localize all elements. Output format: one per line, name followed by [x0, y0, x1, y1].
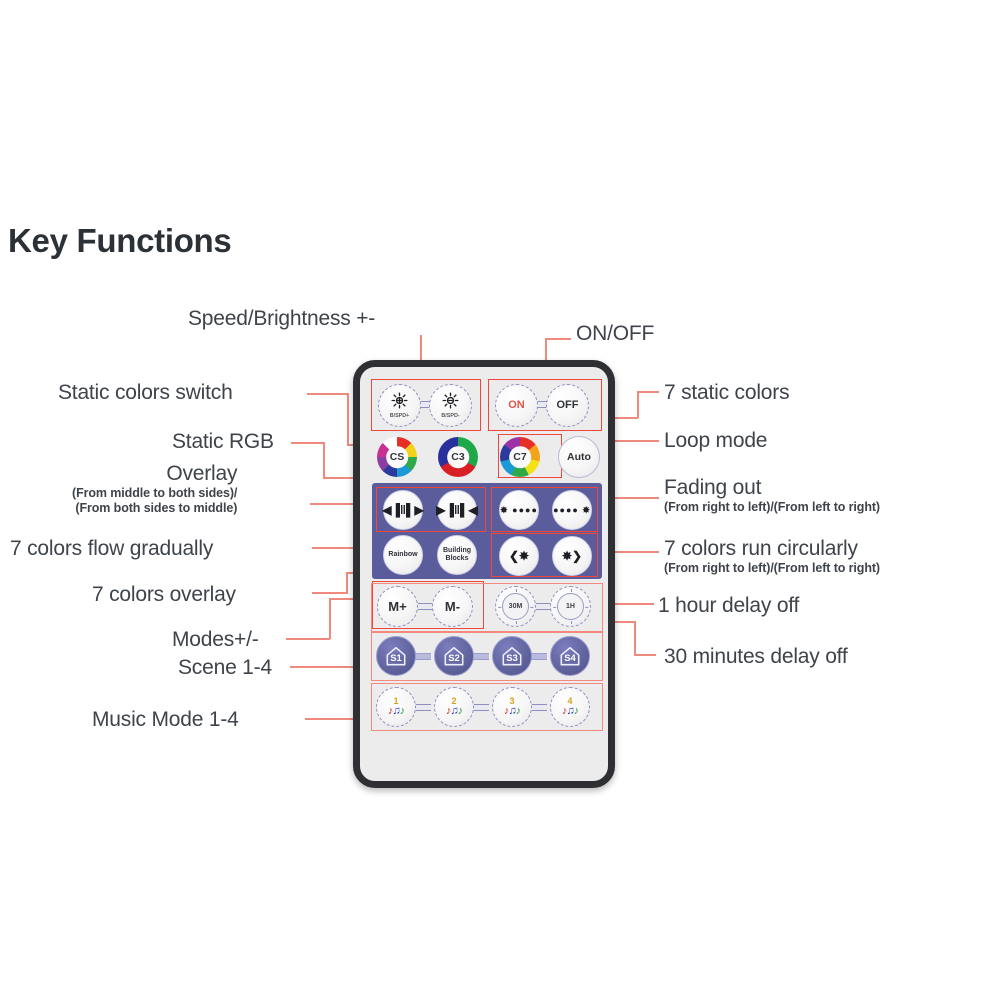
- label-scene-1-4: Scene 1-4: [178, 656, 272, 680]
- key-scene-2-label: S2: [448, 653, 460, 664]
- key-rainbow-label: Rainbow: [388, 551, 417, 559]
- key-brightness-down[interactable]: B/SPD-: [429, 384, 472, 427]
- label-static-rgb: Static RGB: [172, 430, 274, 454]
- label-colors-flow-gradually: 7 colors flow gradually: [10, 537, 213, 561]
- home-icon: S4: [559, 645, 581, 667]
- key-timer-30m-label: 30M: [502, 593, 529, 620]
- key-music-4[interactable]: 4 ♪♫♪: [550, 687, 590, 727]
- key-scene-2[interactable]: S2: [434, 636, 474, 676]
- music-note-icon: ♪♫♪: [504, 706, 520, 717]
- key-scene-4[interactable]: S4: [550, 636, 590, 676]
- label-fading-out: Fading out (From right to left)/(From le…: [664, 476, 880, 515]
- key-brightness-up[interactable]: B/SPD+: [378, 384, 421, 427]
- connector-modes-v: [329, 598, 331, 639]
- key-on-label: ON: [508, 400, 525, 411]
- key-music-3[interactable]: 3 ♪♫♪: [492, 687, 532, 727]
- run-right-icon: ✸❯: [562, 550, 582, 562]
- label-colors-run-circularly: 7 colors run circularly (From right to l…: [664, 537, 880, 576]
- connector-7-static-colors-h: [637, 391, 659, 393]
- label-overlay-title: Overlay: [166, 462, 237, 485]
- key-timer-1h-label: 1H: [557, 593, 584, 620]
- overlay-out-icon: ◀▐‖▌▶: [382, 504, 423, 516]
- label-loop-mode: Loop mode: [664, 429, 767, 453]
- key-scene-1-label: S1: [390, 653, 402, 664]
- key-cs-label: CS: [386, 446, 408, 468]
- connector-static-colors-switch-v: [347, 393, 349, 445]
- label-30-minutes-delay-off: 30 minutes delay off: [664, 645, 848, 669]
- connector-colors-overlay-h: [312, 592, 348, 594]
- music-note-icon: ♪♫♪: [446, 706, 462, 717]
- key-overlay-in[interactable]: ▶▐‖▌◀: [437, 490, 477, 530]
- bridge-scene-2: [472, 653, 489, 660]
- key-c7-label: C7: [509, 446, 531, 468]
- connector-7-static-colors-v: [637, 391, 639, 418]
- brightness-up-icon: [391, 392, 408, 413]
- music-note-icon: ♪♫♪: [388, 706, 404, 717]
- bridge-music-1: [414, 704, 431, 711]
- key-scene-1[interactable]: S1: [376, 636, 416, 676]
- key-music-2[interactable]: 2 ♪♫♪: [434, 687, 474, 727]
- home-icon: S3: [501, 645, 523, 667]
- connector-static-rgb-h: [291, 442, 324, 444]
- connector-30m-h2: [634, 654, 656, 656]
- label-modes-plus-minus: Modes+/-: [172, 628, 259, 652]
- fade-left-to-right-icon: ●●●● ✸: [553, 506, 591, 515]
- label-fading-out-title: Fading out: [664, 476, 761, 499]
- key-brightness-down-caption: B/SPD-: [441, 414, 459, 419]
- home-icon: S2: [443, 645, 465, 667]
- label-overlay-sub-1: (From middle to both sides)/: [72, 486, 237, 501]
- key-c3-label: C3: [447, 446, 469, 468]
- connector-30m-v: [634, 621, 636, 655]
- key-off-label: OFF: [557, 400, 579, 411]
- label-on-off: ON/OFF: [576, 322, 654, 346]
- fade-right-to-left-icon: ✸ ●●●●: [500, 506, 538, 515]
- label-music-mode-1-4: Music Mode 1-4: [92, 708, 239, 732]
- key-on[interactable]: ON: [495, 384, 538, 427]
- key-scene-4-label: S4: [564, 653, 576, 664]
- overlay-in-icon: ▶▐‖▌◀: [436, 504, 477, 516]
- key-mode-plus-label: M+: [388, 600, 406, 613]
- music-note-icon: ♪♫♪: [562, 706, 578, 717]
- key-building-blocks[interactable]: Building Blocks: [437, 535, 477, 575]
- label-colors-run-circularly-title: 7 colors run circularly: [664, 537, 858, 560]
- key-mode-plus[interactable]: M+: [377, 586, 418, 627]
- key-building-blocks-label: Building Blocks: [438, 547, 476, 563]
- run-left-icon: ❮✸: [509, 550, 529, 562]
- key-timer-30m[interactable]: 30M: [495, 586, 536, 627]
- connector-static-rgb-v: [323, 442, 325, 478]
- key-fade-right-to-left[interactable]: ✸ ●●●●: [499, 490, 539, 530]
- key-auto-label: Auto: [567, 452, 591, 463]
- key-color-wheel-c7[interactable]: C7: [500, 437, 540, 477]
- key-mode-minus[interactable]: M-: [432, 586, 473, 627]
- key-off[interactable]: OFF: [546, 384, 589, 427]
- label-speed-brightness: Speed/Brightness +-: [188, 307, 375, 331]
- key-fade-left-to-right[interactable]: ●●●● ✸: [552, 490, 592, 530]
- key-color-wheel-cs[interactable]: CS: [377, 437, 417, 477]
- brightness-down-icon: [442, 392, 459, 413]
- key-rainbow[interactable]: Rainbow: [383, 535, 423, 575]
- key-music-1[interactable]: 1 ♪♫♪: [376, 687, 416, 727]
- label-1-hour-delay-off: 1 hour delay off: [658, 594, 799, 618]
- label-7-static-colors: 7 static colors: [664, 381, 789, 405]
- connector-on-off-h: [545, 338, 571, 340]
- key-run-right[interactable]: ✸❯: [552, 536, 592, 576]
- home-icon: S1: [385, 645, 407, 667]
- key-mode-minus-label: M-: [445, 600, 460, 613]
- key-functions-diagram: Key Functions Speed/Brightness +- ON/OFF…: [0, 0, 1002, 1002]
- key-brightness-up-caption: B/SPD+: [390, 414, 410, 419]
- label-overlay: Overlay (From middle to both sides)/ (Fr…: [72, 462, 237, 516]
- key-run-left[interactable]: ❮✸: [499, 536, 539, 576]
- connector-colors-overlay-v: [346, 572, 348, 593]
- bridge-music-2: [472, 704, 489, 711]
- page-title: Key Functions: [8, 222, 231, 260]
- bridge-scene-3: [530, 653, 547, 660]
- key-overlay-out[interactable]: ◀▐‖▌▶: [383, 490, 423, 530]
- key-timer-1h[interactable]: 1H: [550, 586, 591, 627]
- bridge-scene-1: [414, 653, 431, 660]
- label-fading-out-sub: (From right to left)/(From left to right…: [664, 500, 880, 515]
- key-auto[interactable]: Auto: [558, 436, 600, 478]
- label-overlay-sub-2: (From both sides to middle): [72, 501, 237, 516]
- bridge-music-3: [530, 704, 547, 711]
- connector-static-colors-switch-h: [307, 393, 348, 395]
- connector-modes-h: [286, 638, 330, 640]
- key-color-wheel-c3[interactable]: C3: [438, 437, 478, 477]
- remote-control-body: B/SPD+ B/SPD-: [353, 360, 615, 788]
- key-scene-3-label: S3: [506, 653, 518, 664]
- key-scene-3[interactable]: S3: [492, 636, 532, 676]
- label-colors-overlay: 7 colors overlay: [92, 583, 236, 607]
- label-static-colors-switch: Static colors switch: [58, 381, 233, 405]
- label-colors-run-circularly-sub: (From right to left)/(From left to right…: [664, 561, 880, 576]
